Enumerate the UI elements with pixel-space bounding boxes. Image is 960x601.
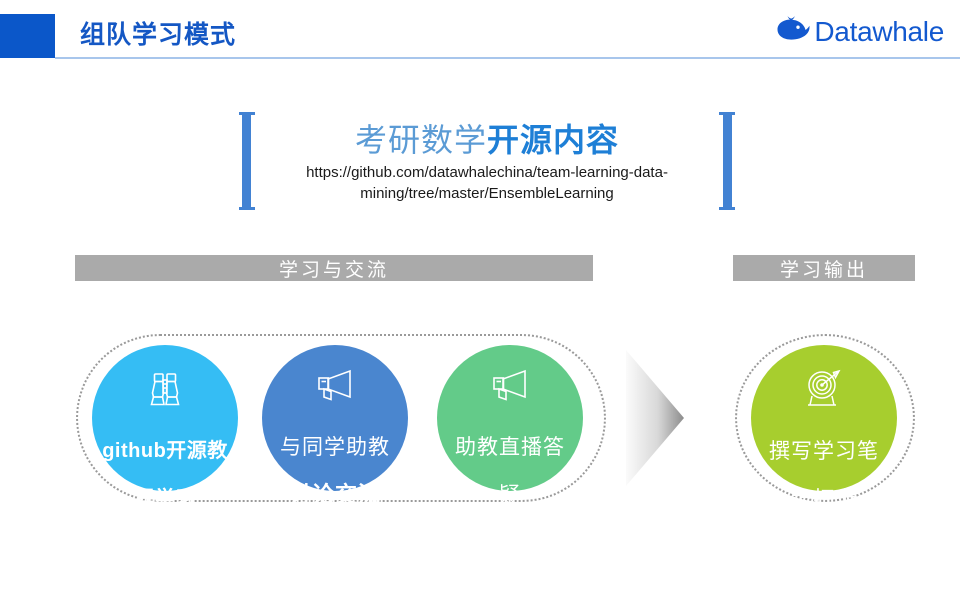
section-header-study-exchange: 学习与交流: [75, 255, 593, 281]
step-label: github开源教 程学习: [94, 415, 236, 511]
title-block: 考研数学开源内容 https://github.com/datawhalechi…: [237, 112, 737, 210]
page-title: 组队学习模式: [80, 15, 236, 55]
section-header-study-output: 学习输出: [733, 255, 915, 281]
bracket-right-icon: [719, 112, 737, 210]
repository-url: https://github.com/datawhalechina/team-l…: [263, 162, 711, 204]
step-label: 助教直播答 疑: [447, 411, 573, 507]
repository-url-line1: https://github.com/datawhalechina/team-l…: [306, 164, 668, 181]
step-circle-discussion[interactable]: 与同学助教 讨论交流: [262, 345, 408, 491]
whale-icon: [774, 15, 810, 50]
megaphone-icon: [487, 367, 533, 407]
step-circle-live-qa[interactable]: 助教直播答 疑: [437, 345, 583, 491]
step-label-line1: 助教直播答: [455, 435, 565, 459]
step-label-line2: 记打卡: [791, 487, 857, 511]
step-label-line2: 讨论交流: [280, 483, 390, 507]
step-circle-write-notes[interactable]: 撰写学习笔 记打卡: [751, 345, 897, 491]
title-heading-bold: 开源内容: [487, 122, 619, 158]
repository-url-line2: mining/tree/master/EnsembleLearning: [360, 185, 613, 202]
brand-name: Datawhale: [814, 17, 944, 47]
step-label-line2: 疑: [499, 483, 521, 507]
datawhale-logo: Datawhale: [774, 13, 944, 51]
step-label: 撰写学习笔 记打卡: [761, 415, 887, 511]
header-divider: [55, 57, 960, 59]
bracket-left-icon: [237, 112, 255, 210]
step-label-line2: 程学习: [134, 488, 196, 510]
megaphone-icon: [312, 367, 358, 407]
step-label-line1: github开源教: [102, 440, 228, 462]
page-header: 组队学习模式 Datawhale: [0, 0, 960, 62]
target-arrow-icon: [801, 367, 847, 411]
step-label: 与同学助教 讨论交流: [272, 411, 398, 531]
header-accent-block: [0, 14, 55, 58]
step-label-line1: 撰写学习笔: [769, 439, 879, 463]
step-circle-github-tutorial[interactable]: github开源教 程学习: [92, 345, 238, 491]
binoculars-icon: [143, 367, 187, 411]
step-label-line1: 与同学助教: [280, 435, 390, 459]
title-heading-serif: 考研数学: [355, 122, 487, 158]
flow-arrow-icon: [626, 350, 686, 486]
